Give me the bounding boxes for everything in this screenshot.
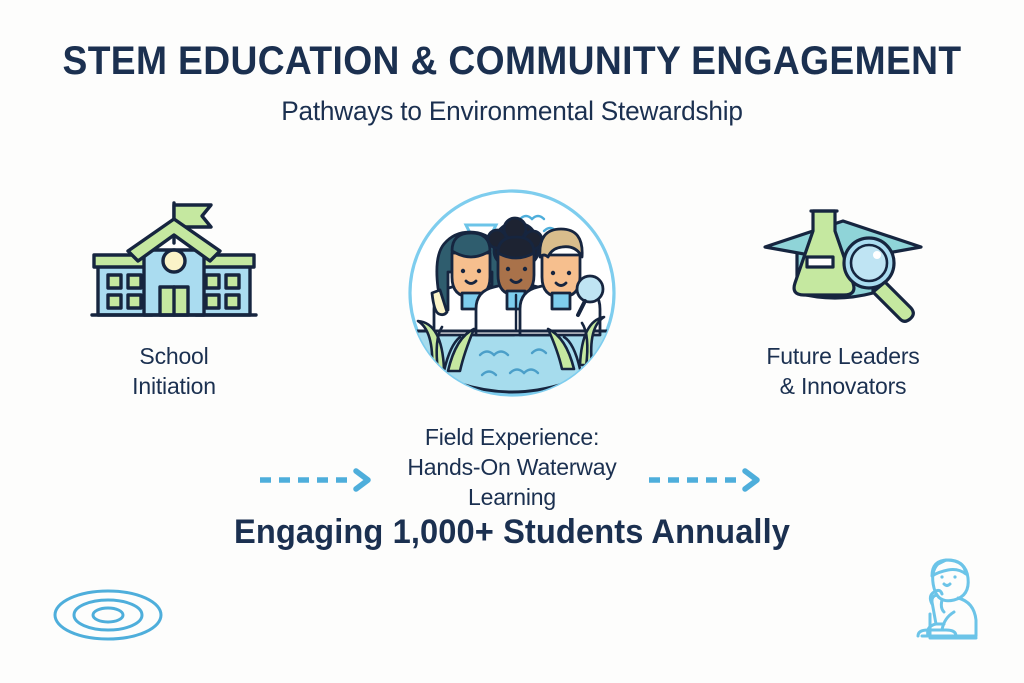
page-subtitle: Pathways to Environmental Stewardship <box>15 96 1008 127</box>
stage-label-line1: Future Leaders <box>748 342 938 372</box>
dashed-arrow-right-icon <box>256 468 376 492</box>
stage-future-leaders: Future Leaders & Innovators <box>748 195 938 402</box>
school-building-icon <box>84 195 264 325</box>
stage-label-line1: Field Experience: <box>362 423 662 453</box>
stage-field-experience: Field Experience: Hands-On Waterway Lear… <box>362 183 662 513</box>
student-microscope-icon <box>908 550 1000 648</box>
stage-label-line2: & Innovators <box>748 372 938 402</box>
stage-label-line1: School <box>84 342 264 372</box>
impact-statement: Engaging 1,000+ Students Annually <box>20 513 1003 552</box>
header: STEM EDUCATION & COMMUNITY ENGAGEMENT Pa… <box>0 40 1024 127</box>
process-flow: School Initiation <box>0 185 1024 485</box>
students-in-waterway-icon <box>362 183 662 405</box>
stage-school-initiation-label: School Initiation <box>84 342 264 402</box>
infographic-canvas: STEM EDUCATION & COMMUNITY ENGAGEMENT Pa… <box>0 0 1024 683</box>
stage-label-line2: Hands-On Waterway Learning <box>362 453 662 513</box>
stage-label-line2: Initiation <box>84 372 264 402</box>
dashed-arrow-right-icon <box>645 468 765 492</box>
stage-future-leaders-label: Future Leaders & Innovators <box>748 342 938 402</box>
stage-field-experience-label: Field Experience: Hands-On Waterway Lear… <box>362 423 662 513</box>
graduation-cap-flask-magnifier-icon <box>748 195 938 325</box>
page-title: STEM EDUCATION & COMMUNITY ENGAGEMENT <box>36 40 988 82</box>
stage-school-initiation: School Initiation <box>84 195 264 402</box>
water-ripple-icon <box>52 584 164 646</box>
